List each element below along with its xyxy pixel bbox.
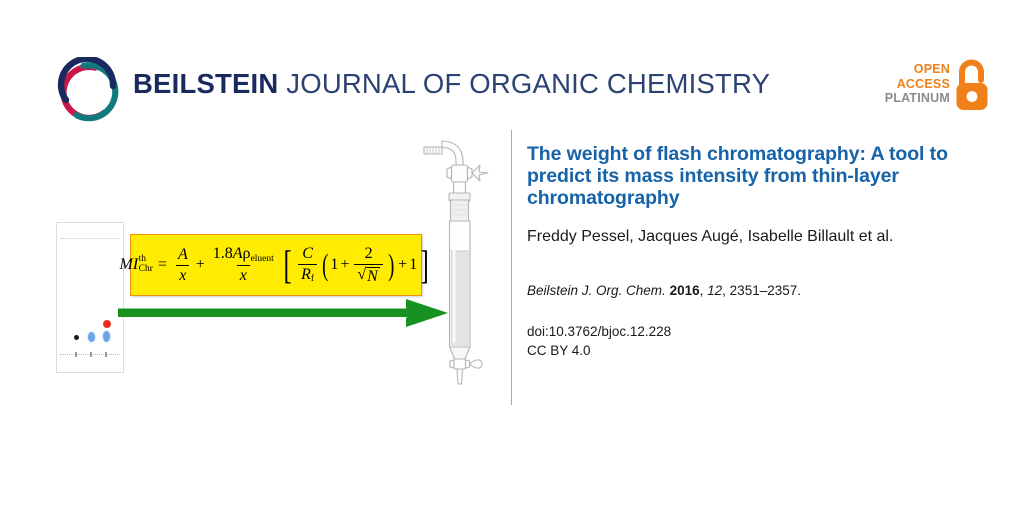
- eq-Rf-subscript: f: [311, 274, 314, 284]
- eq-equals: =: [158, 257, 167, 273]
- article-license[interactable]: CC BY 4.0: [527, 341, 979, 360]
- eq-one: 1: [330, 257, 338, 273]
- eq-plus-2: +: [340, 257, 349, 273]
- article-citation: Beilstein J. Org. Chem. 2016, 12, 2351–2…: [527, 282, 979, 300]
- eq-paren-open: (: [322, 252, 328, 277]
- beilstein-ring-logo-icon: [56, 57, 126, 123]
- eq-plus-1: +: [196, 257, 205, 273]
- tlc-origin-tick: [90, 352, 92, 357]
- eq-sqrt-symbol: √: [357, 266, 366, 284]
- citation-year: 2016: [670, 283, 700, 298]
- eq-term1-numerator: A: [175, 246, 191, 265]
- open-access-badge: OPEN ACCESS PLATINUM: [884, 58, 992, 120]
- tlc-spot-black: [74, 335, 79, 340]
- tlc-spot-blue-1: [88, 332, 95, 342]
- article-title: The weight of flash chromatography: A to…: [527, 143, 979, 209]
- tlc-origin-tick: [75, 352, 77, 357]
- eq-sqrt-denominator: √N: [354, 264, 382, 286]
- eq-sqrt-radicand: N: [366, 267, 380, 286]
- eq-term2-numerator: 1.8Aρeluent: [210, 245, 277, 265]
- eq-term1-fraction: A x: [175, 246, 191, 284]
- eq-term2-rho: ρ: [243, 245, 251, 262]
- eq-sqrt-numerator: 2: [362, 245, 376, 264]
- tlc-plate: [56, 222, 124, 373]
- masthead: BEILSTEIN JOURNAL OF ORGANIC CHEMISTRY O…: [0, 0, 1024, 130]
- tlc-spot-red: [103, 320, 111, 328]
- open-access-text: OPEN ACCESS PLATINUM: [885, 62, 950, 106]
- citation-volume: 12: [707, 283, 722, 298]
- eq-Rf: Rf: [298, 264, 317, 285]
- oa-line-open: OPEN: [885, 62, 950, 77]
- eq-term1-denominator: x: [176, 265, 189, 285]
- eq-term2-coefficient: 1.8: [213, 245, 233, 262]
- article-doi[interactable]: doi:10.3762/bjoc.12.228: [527, 322, 979, 341]
- tlc-spot-blue-2: [103, 331, 110, 342]
- mass-intensity-equation: MIthChr = A x + 1.8Aρeluent x [ C Rf ( 1…: [120, 245, 433, 285]
- eq-two-over-sqrt-n: 2 √N: [354, 245, 382, 285]
- citation-journal: Beilstein J. Org. Chem.: [527, 283, 666, 298]
- eq-c-over-rf: C Rf: [298, 245, 317, 285]
- eq-paren-close: ): [388, 252, 394, 277]
- eq-lhs-subscript: Chr: [139, 265, 153, 275]
- wordmark-beilstein: BEILSTEIN: [133, 68, 278, 99]
- wordmark-journal-of-organic-chemistry: JOURNAL OF ORGANIC CHEMISTRY: [278, 68, 770, 99]
- eq-lhs-script: thChr: [139, 255, 153, 275]
- article-info: The weight of flash chromatography: A to…: [527, 143, 979, 360]
- open-lock-icon: [952, 58, 992, 114]
- eq-plus-3: +: [398, 257, 407, 273]
- tlc-origin-tick: [105, 352, 107, 357]
- journal-wordmark: BEILSTEIN JOURNAL OF ORGANIC CHEMISTRY: [133, 70, 770, 98]
- eq-term2-fraction: 1.8Aρeluent x: [210, 245, 277, 285]
- oa-line-platinum: PLATINUM: [885, 91, 950, 106]
- flash-chromatography-column-icon: [418, 135, 498, 385]
- eq-term2-rho-subscript: eluent: [251, 254, 274, 264]
- vertical-divider: [511, 130, 512, 405]
- eq-trailing-one: 1: [409, 257, 417, 273]
- eq-Rf-symbol: R: [301, 266, 311, 283]
- citation-pages: 2351–2357.: [730, 283, 801, 298]
- equation-box: MIthChr = A x + 1.8Aρeluent x [ C Rf ( 1…: [130, 234, 422, 296]
- tlc-solvent-front-line: [60, 238, 120, 239]
- eq-term2-denominator: x: [237, 265, 250, 285]
- eq-bracket-open: [: [283, 249, 291, 282]
- eq-C: C: [299, 245, 316, 264]
- eq-lhs-symbol: MI: [120, 257, 139, 273]
- oa-line-access: ACCESS: [885, 77, 950, 92]
- process-arrow-icon: [118, 296, 448, 330]
- eq-term2-A: A: [233, 245, 243, 262]
- article-authors: Freddy Pessel, Jacques Augé, Isabelle Bi…: [527, 227, 979, 247]
